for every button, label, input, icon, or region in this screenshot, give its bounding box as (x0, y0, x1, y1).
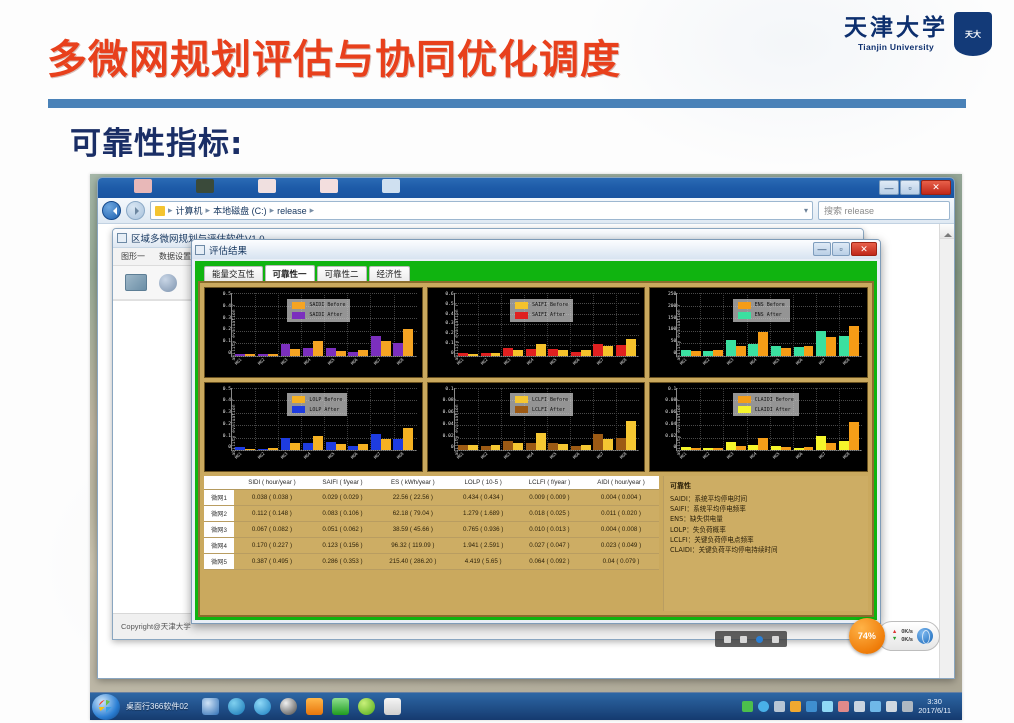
chevron-down-icon[interactable]: ▾ (804, 206, 808, 215)
bar (313, 436, 323, 450)
ytick: 0.2 (223, 328, 231, 333)
breadcrumb-separator: ▸ (206, 205, 211, 216)
xtick: MG1 (679, 356, 697, 374)
tab-3[interactable]: 经济性 (369, 266, 411, 281)
table-row-label: 微网5 (204, 554, 234, 570)
bar-group (681, 388, 701, 451)
xtick: MG4 (748, 356, 766, 374)
chart-xticks: MG1MG2MG3MG4MG5MG6MG7MG8 (231, 451, 417, 469)
bar-group (393, 388, 413, 451)
legend-panel-line: SAIDI：系统平均停电时间 (670, 494, 862, 504)
tray-icon-1[interactable] (742, 701, 753, 712)
close-button[interactable]: ✕ (921, 180, 951, 195)
presentation-slide: 多微网规划评估与协同优化调度 天津大学 Tianjin University 天… (0, 0, 1014, 723)
table-cell: 0.067 ( 0.082 ) (234, 522, 310, 538)
metrics-table-wrapper[interactable]: SIDI ( hour/year )SAIFI ( f/year )ES ( k… (204, 476, 659, 611)
table-row-label: 微网3 (204, 522, 234, 538)
xtick: MG8 (396, 356, 414, 374)
bar (358, 444, 368, 450)
chart-legend: CLAIDI BeforeCLAIDI After (733, 393, 799, 416)
bar (726, 340, 736, 356)
table-row[interactable]: 微网50.387 ( 0.495 )0.286 ( 0.353 )215.40 … (204, 554, 659, 570)
xtick: MG6 (795, 356, 813, 374)
bar (371, 336, 381, 355)
ytick: 0.3 (223, 317, 231, 322)
legend-swatch (738, 302, 751, 309)
table-cell: 0.112 ( 0.148 ) (234, 506, 310, 522)
slide-header: 多微网规划评估与协同优化调度 天津大学 Tianjin University 天… (0, 0, 1014, 104)
maximize-button[interactable]: ▫ (900, 180, 920, 195)
breadcrumb-item-release[interactable]: release (277, 206, 307, 216)
tray-icon-8[interactable] (854, 701, 865, 712)
bar-group (794, 293, 814, 356)
bar (616, 345, 626, 355)
xtick: MG5 (326, 451, 344, 469)
bar (245, 449, 255, 450)
bar (736, 446, 746, 450)
xtick: MG5 (326, 356, 344, 374)
network-speed-widget[interactable]: 74% ▲▼ 0K/s 0K/s (849, 618, 940, 654)
result-green-frame: 能量交互性可靠性一可靠性二经济性 ability evaluation r0.5… (195, 261, 877, 620)
ytick: 0.6 (445, 293, 453, 298)
bar (326, 348, 336, 356)
scroll-up-arrow-icon[interactable] (940, 224, 954, 239)
explorer-scrollbar[interactable] (939, 224, 954, 678)
xtick: MG6 (795, 451, 813, 469)
breadcrumb-item-drive[interactable]: 本地磁盘 (C:) (213, 204, 267, 217)
legend-entry: LCLFI Before (515, 396, 568, 403)
bar (571, 352, 581, 356)
minimize-button[interactable]: — (879, 180, 899, 195)
tray-icon-9[interactable] (870, 701, 881, 712)
result-content-panel: ability evaluation r0.50.40.30.20.10MG1M… (198, 281, 874, 617)
legend-swatch (738, 312, 751, 319)
bar-group (371, 388, 391, 451)
ytick: 0.2 (445, 332, 453, 337)
chart-yticks: 0.10.080.060.040.020 (658, 388, 676, 452)
xtick: MG3 (725, 451, 743, 469)
bar (468, 445, 478, 450)
xtick: MG7 (373, 356, 391, 374)
table-cell: 4.419 ( 5.65 ) (451, 554, 516, 570)
bar (503, 441, 513, 450)
bar (290, 349, 300, 356)
table-cell: 0.023 ( 0.049 ) (583, 538, 659, 554)
table-cell: 96.32 ( 119.09 ) (375, 538, 450, 554)
bar (468, 354, 478, 355)
xtick: MG4 (748, 451, 766, 469)
globe-icon[interactable] (917, 628, 933, 644)
table-col-header: LCLFI ( f/year ) (516, 476, 583, 490)
taskbar-quicklaunch[interactable] (202, 698, 401, 715)
xtick: MG3 (503, 356, 521, 374)
ytick: 0.2 (223, 423, 231, 428)
legend-panel-line: LOLP：失负荷概率 (670, 525, 862, 535)
legend-entry: LCLFI After (515, 406, 568, 413)
bar-group (348, 388, 368, 451)
table-cell: 22.56 ( 22.56 ) (375, 490, 450, 506)
result-minimize-button[interactable]: — (813, 242, 831, 256)
calendar-taskbar-icon[interactable] (332, 698, 349, 715)
bar (268, 448, 278, 451)
ytick: 0.04 (665, 423, 676, 428)
table-row[interactable]: 微网10.038 ( 0.038 )0.029 ( 0.029 )22.56 (… (204, 490, 659, 506)
bar-group (616, 388, 636, 451)
xtick: MG7 (595, 451, 613, 469)
bar (681, 447, 691, 450)
legend-label: SAIDI After (309, 312, 342, 318)
logo-chinese-name: 天津大学 (844, 16, 948, 39)
shield-icon: 天大 (954, 12, 992, 56)
result-window-title: 评估结果 (209, 243, 247, 257)
legend-swatch (292, 396, 305, 403)
bar-group (703, 388, 723, 451)
xtick: MG1 (679, 451, 697, 469)
tray-icon-3[interactable] (774, 701, 785, 712)
table-col-header: SAIFI ( f/year ) (310, 476, 375, 490)
bar (571, 446, 581, 450)
xtick: MG6 (350, 451, 368, 469)
chart-yticks: 250200150100500 (658, 293, 676, 357)
media-search-icon[interactable] (724, 636, 731, 643)
legend-label: SAIFI Before (532, 302, 568, 308)
bar-group (681, 293, 701, 356)
tab-2[interactable]: 可靠性二 (317, 266, 367, 281)
bar-group (348, 293, 368, 356)
bar (536, 433, 546, 451)
bar (336, 444, 346, 450)
legend-label: SAIDI Before (309, 302, 345, 308)
ytick: 0.5 (223, 388, 231, 393)
bar (235, 354, 245, 355)
start-button-icon[interactable] (92, 694, 120, 720)
table-cell: 0.051 ( 0.062 ) (310, 522, 375, 538)
document-taskbar-icon[interactable] (384, 698, 401, 715)
xtick: MG4 (303, 451, 321, 469)
map-tool-icon[interactable] (125, 274, 147, 291)
bar (593, 434, 603, 450)
browser2-taskbar-icon[interactable] (254, 698, 271, 715)
tray-icon-4[interactable] (790, 701, 801, 712)
explorer-taskbar-icon[interactable] (202, 698, 219, 715)
xtick: MG5 (549, 356, 567, 374)
bar-group (235, 388, 255, 451)
xtick: MG2 (257, 451, 275, 469)
bar (691, 448, 701, 451)
legend-swatch (292, 302, 305, 309)
ytick: 0.4 (223, 399, 231, 404)
tray-icon-2[interactable] (758, 701, 769, 712)
legend-entry: SAIDI Before (292, 302, 345, 309)
bar-group (258, 388, 278, 451)
search-placeholder: 搜索 release (824, 204, 874, 217)
table-cell: 0.011 ( 0.020 ) (583, 506, 659, 522)
legend-swatch (738, 396, 751, 403)
legend-swatch (292, 312, 305, 319)
legend-label: LCLFI After (532, 407, 565, 413)
windows-taskbar[interactable]: 桌面行366软件02 (90, 692, 962, 720)
bar (393, 439, 403, 450)
xtick: MG6 (350, 356, 368, 374)
table-cell: 0.083 ( 0.106 ) (310, 506, 375, 522)
file-explorer-window[interactable]: — ▫ ✕ ▸ 计算机 ▸ 本地磁盘 (C:) ▸ release ▸ ▾ (97, 177, 955, 679)
bar (526, 349, 536, 355)
university-logo: 天津大学 Tianjin University 天大 (844, 12, 992, 56)
messenger-taskbar-icon[interactable] (358, 698, 375, 715)
volume-icon[interactable] (902, 701, 913, 712)
chart-legend: SAIDI BeforeSAIDI After (287, 299, 350, 322)
result-tabstrip[interactable]: 能量交互性可靠性一可靠性二经济性 (198, 264, 874, 281)
bar-group (616, 293, 636, 356)
table-row[interactable]: 微网20.112 ( 0.148 )0.083 ( 0.106 )62.18 (… (204, 506, 659, 522)
bar (603, 346, 613, 355)
legend-label: LOLP After (309, 407, 339, 413)
bar (348, 352, 358, 356)
ytick: 0.08 (443, 399, 454, 404)
bar (336, 351, 346, 356)
bar (303, 443, 313, 450)
bar (558, 444, 568, 450)
ytick: 0.5 (223, 293, 231, 298)
shield-text: 天大 (965, 30, 981, 38)
network-speed-pill[interactable]: ▲▼ 0K/s 0K/s (877, 621, 940, 651)
chart-yticks: 0.60.50.40.30.20.10 (436, 293, 454, 357)
xtick: MG1 (234, 451, 252, 469)
system-tray[interactable]: 3:30 2017/6/11 (742, 698, 962, 715)
bar (481, 353, 491, 355)
updown-arrows-icon: ▲▼ (892, 630, 897, 642)
bar-group (481, 388, 501, 451)
menu-item-data-settings[interactable]: 数据设置 (159, 251, 191, 262)
table-col-header: SIDI ( hour/year ) (234, 476, 310, 490)
legend-entry: CLAIDI After (738, 406, 794, 413)
table-cell: 0.434 ( 0.434 ) (451, 490, 516, 506)
chart-lolp: ability evaluation r0.50.40.30.20.10MG1M… (204, 382, 423, 473)
table-row[interactable]: 微网30.067 ( 0.082 )0.051 ( 0.062 )38.59 (… (204, 522, 659, 538)
globe-tool-icon[interactable] (159, 274, 177, 292)
ytick: 0.1 (223, 435, 231, 440)
legend-entry: LOLP Before (292, 396, 342, 403)
table-cell: 0.009 ( 0.009 ) (516, 490, 583, 506)
copyright-text: Copyright@天津大学 (121, 622, 191, 631)
bar (626, 421, 636, 450)
xtick: MG6 (572, 356, 590, 374)
media-list-icon[interactable] (740, 636, 747, 643)
bar (794, 347, 804, 356)
xtick: MG5 (772, 356, 790, 374)
chart-yticks: 0.50.40.30.20.10 (213, 293, 231, 357)
table-header-row: SIDI ( hour/year )SAIFI ( f/year )ES ( k… (204, 476, 659, 490)
bar (849, 326, 859, 356)
tab-0[interactable]: 能量交互性 (204, 266, 263, 281)
chart-xticks: MG1MG2MG3MG4MG5MG6MG7MG8 (676, 357, 862, 375)
bar (503, 348, 513, 356)
bar (758, 332, 768, 356)
taskbar-clock[interactable]: 3:30 2017/6/11 (918, 698, 957, 715)
chart-lclfi: ability evaluation r0.10.080.060.040.020… (427, 382, 646, 473)
forward-button[interactable] (126, 201, 145, 220)
legend-swatch (738, 406, 751, 413)
bar (481, 446, 491, 450)
search-input[interactable]: 搜索 release (818, 201, 950, 220)
xtick: MG4 (526, 451, 544, 469)
bar (748, 344, 758, 356)
ytick: 0.1 (668, 388, 676, 393)
breadcrumb-item-computer[interactable]: 计算机 (176, 204, 203, 217)
music-taskbar-icon[interactable] (306, 698, 323, 715)
ytick: 0.3 (445, 322, 453, 327)
bar (758, 438, 768, 451)
taskbar-window-label[interactable]: 桌面行366软件02 (126, 701, 188, 712)
table-cell: 0.010 ( 0.013 ) (516, 522, 583, 538)
table-cell: 0.038 ( 0.038 ) (234, 490, 310, 506)
ytick: 0.06 (443, 411, 454, 416)
desktop-icon (320, 179, 338, 193)
table-cell: 0.765 ( 0.936 ) (451, 522, 516, 538)
address-bar[interactable]: ▸ 计算机 ▸ 本地磁盘 (C:) ▸ release ▸ ▾ (150, 201, 813, 220)
bar (326, 442, 336, 450)
ytick: 0.06 (665, 411, 676, 416)
bar (526, 443, 536, 451)
bar-group (258, 293, 278, 356)
bar (281, 344, 291, 356)
evaluation-result-window[interactable]: 评估结果 — ▫ ✕ 能量交互性可靠性一可靠性二经济性 ability eval… (191, 239, 881, 624)
explorer-navbar[interactable]: ▸ 计算机 ▸ 本地磁盘 (C:) ▸ release ▸ ▾ 搜索 relea… (98, 198, 954, 224)
bar (794, 448, 804, 451)
upload-speed: 0K/s (901, 629, 913, 635)
bar (616, 438, 626, 451)
bar (781, 348, 791, 356)
bar (268, 354, 278, 356)
legend-entry: SAIDI After (292, 312, 345, 319)
bar-group (839, 388, 859, 451)
embedded-screenshot: — ▫ ✕ ▸ 计算机 ▸ 本地磁盘 (C:) ▸ release ▸ ▾ (90, 174, 962, 720)
chart-xticks: MG1MG2MG3MG4MG5MG6MG7MG8 (231, 357, 417, 375)
result-window-buttons[interactable]: — ▫ ✕ (813, 242, 877, 256)
bar (403, 428, 413, 450)
table-col-header: LOLP ( 10-5 ) (451, 476, 516, 490)
chart-ens: ability evaluation r250200150100500MG1MG… (649, 287, 868, 378)
bar (603, 439, 613, 450)
result-close-button[interactable]: ✕ (851, 242, 877, 256)
legend-label: ENS After (755, 312, 782, 318)
table-cell: 0.018 ( 0.025 ) (516, 506, 583, 522)
bar (593, 344, 603, 356)
media-play-icon[interactable] (756, 636, 763, 643)
xtick: MG8 (841, 451, 859, 469)
browser-taskbar-icon[interactable] (228, 698, 245, 715)
bar (626, 339, 636, 355)
ytick: 0.04 (443, 423, 454, 428)
bar (393, 343, 403, 356)
table-cell: 0.004 ( 0.008 ) (583, 522, 659, 538)
bar (258, 354, 268, 356)
bar (703, 448, 713, 451)
cpu-usage-badge[interactable]: 74% (849, 618, 885, 654)
chart-saidi: ability evaluation r0.50.40.30.20.10MG1M… (204, 287, 423, 378)
media-taskbar-icon[interactable] (280, 698, 297, 715)
tray-icon-7[interactable] (838, 701, 849, 712)
speed-values: 0K/s 0K/s (901, 629, 913, 642)
bar (839, 441, 849, 450)
bar (826, 337, 836, 356)
bar-group (371, 293, 391, 356)
media-stop-icon[interactable] (772, 636, 779, 643)
xtick: MG7 (595, 356, 613, 374)
tray-icon-10[interactable] (886, 701, 897, 712)
folder-icon (155, 206, 165, 216)
table-cell: 0.123 ( 0.156 ) (310, 538, 375, 554)
explorer-titlebar[interactable]: — ▫ ✕ (98, 178, 954, 198)
xtick: MG4 (303, 356, 321, 374)
xtick: MG1 (456, 356, 474, 374)
bar (771, 346, 781, 356)
chart-yticks: 0.10.080.060.040.020 (436, 388, 454, 452)
bar (513, 443, 523, 451)
table-row-label: 微网4 (204, 538, 234, 554)
chart-yticks: 0.50.40.30.20.10 (213, 388, 231, 452)
table-cell: 215.40 ( 286.20 ) (375, 554, 450, 570)
desktop-icon (196, 179, 214, 193)
legend-label: CLAIDI Before (755, 397, 794, 403)
back-button[interactable] (102, 201, 121, 220)
legend-panel-line: SAIFI：系统平均停电频率 (670, 504, 862, 514)
bar (849, 422, 859, 450)
bar (458, 353, 468, 355)
bar-group (839, 293, 859, 356)
xtick: MG6 (572, 451, 590, 469)
result-titlebar[interactable]: 评估结果 — ▫ ✕ (192, 240, 880, 259)
tray-icon-5[interactable] (806, 701, 817, 712)
explorer-window-buttons[interactable]: — ▫ ✕ (879, 180, 951, 195)
table-row[interactable]: 微网40.170 ( 0.227 )0.123 ( 0.156 )96.32 (… (204, 538, 659, 554)
xtick: MG3 (280, 356, 298, 374)
xtick: MG8 (396, 451, 414, 469)
bar (748, 445, 758, 450)
bar (358, 350, 368, 356)
ytick: 0.02 (443, 435, 454, 440)
bar (491, 353, 501, 356)
desktop-icon (258, 179, 276, 193)
bar-group (235, 293, 255, 356)
ytick: 0.3 (223, 411, 231, 416)
tray-icon-6[interactable] (822, 701, 833, 712)
bar (548, 443, 558, 451)
result-maximize-button[interactable]: ▫ (832, 242, 850, 256)
ytick: 100 (668, 328, 676, 333)
media-mini-toolbar[interactable] (715, 631, 787, 647)
menu-item-graphics[interactable]: 图形一 (121, 251, 145, 262)
bar (281, 438, 291, 450)
xtick: MG7 (818, 356, 836, 374)
bar (258, 449, 268, 451)
chart-xticks: MG1MG2MG3MG4MG5MG6MG7MG8 (454, 357, 640, 375)
tab-1[interactable]: 可靠性一 (265, 265, 315, 281)
xtick: MG1 (456, 451, 474, 469)
legend-label: LCLFI Before (532, 397, 568, 403)
table-cell: 0.029 ( 0.029 ) (310, 490, 375, 506)
breadcrumb-separator: ▸ (310, 205, 315, 216)
legend-panel-line: CLAIDI：关键负荷平均停电持续时间 (670, 545, 862, 555)
legend-label: CLAIDI After (755, 407, 791, 413)
app-icon (117, 233, 127, 243)
ytick: 0.4 (223, 305, 231, 310)
table-cell: 0.286 ( 0.353 ) (310, 554, 375, 570)
legend-label: LOLP Before (309, 397, 342, 403)
xtick: MG2 (702, 356, 720, 374)
table-col-header: ES ( kWh/year ) (375, 476, 450, 490)
bar (513, 350, 523, 355)
